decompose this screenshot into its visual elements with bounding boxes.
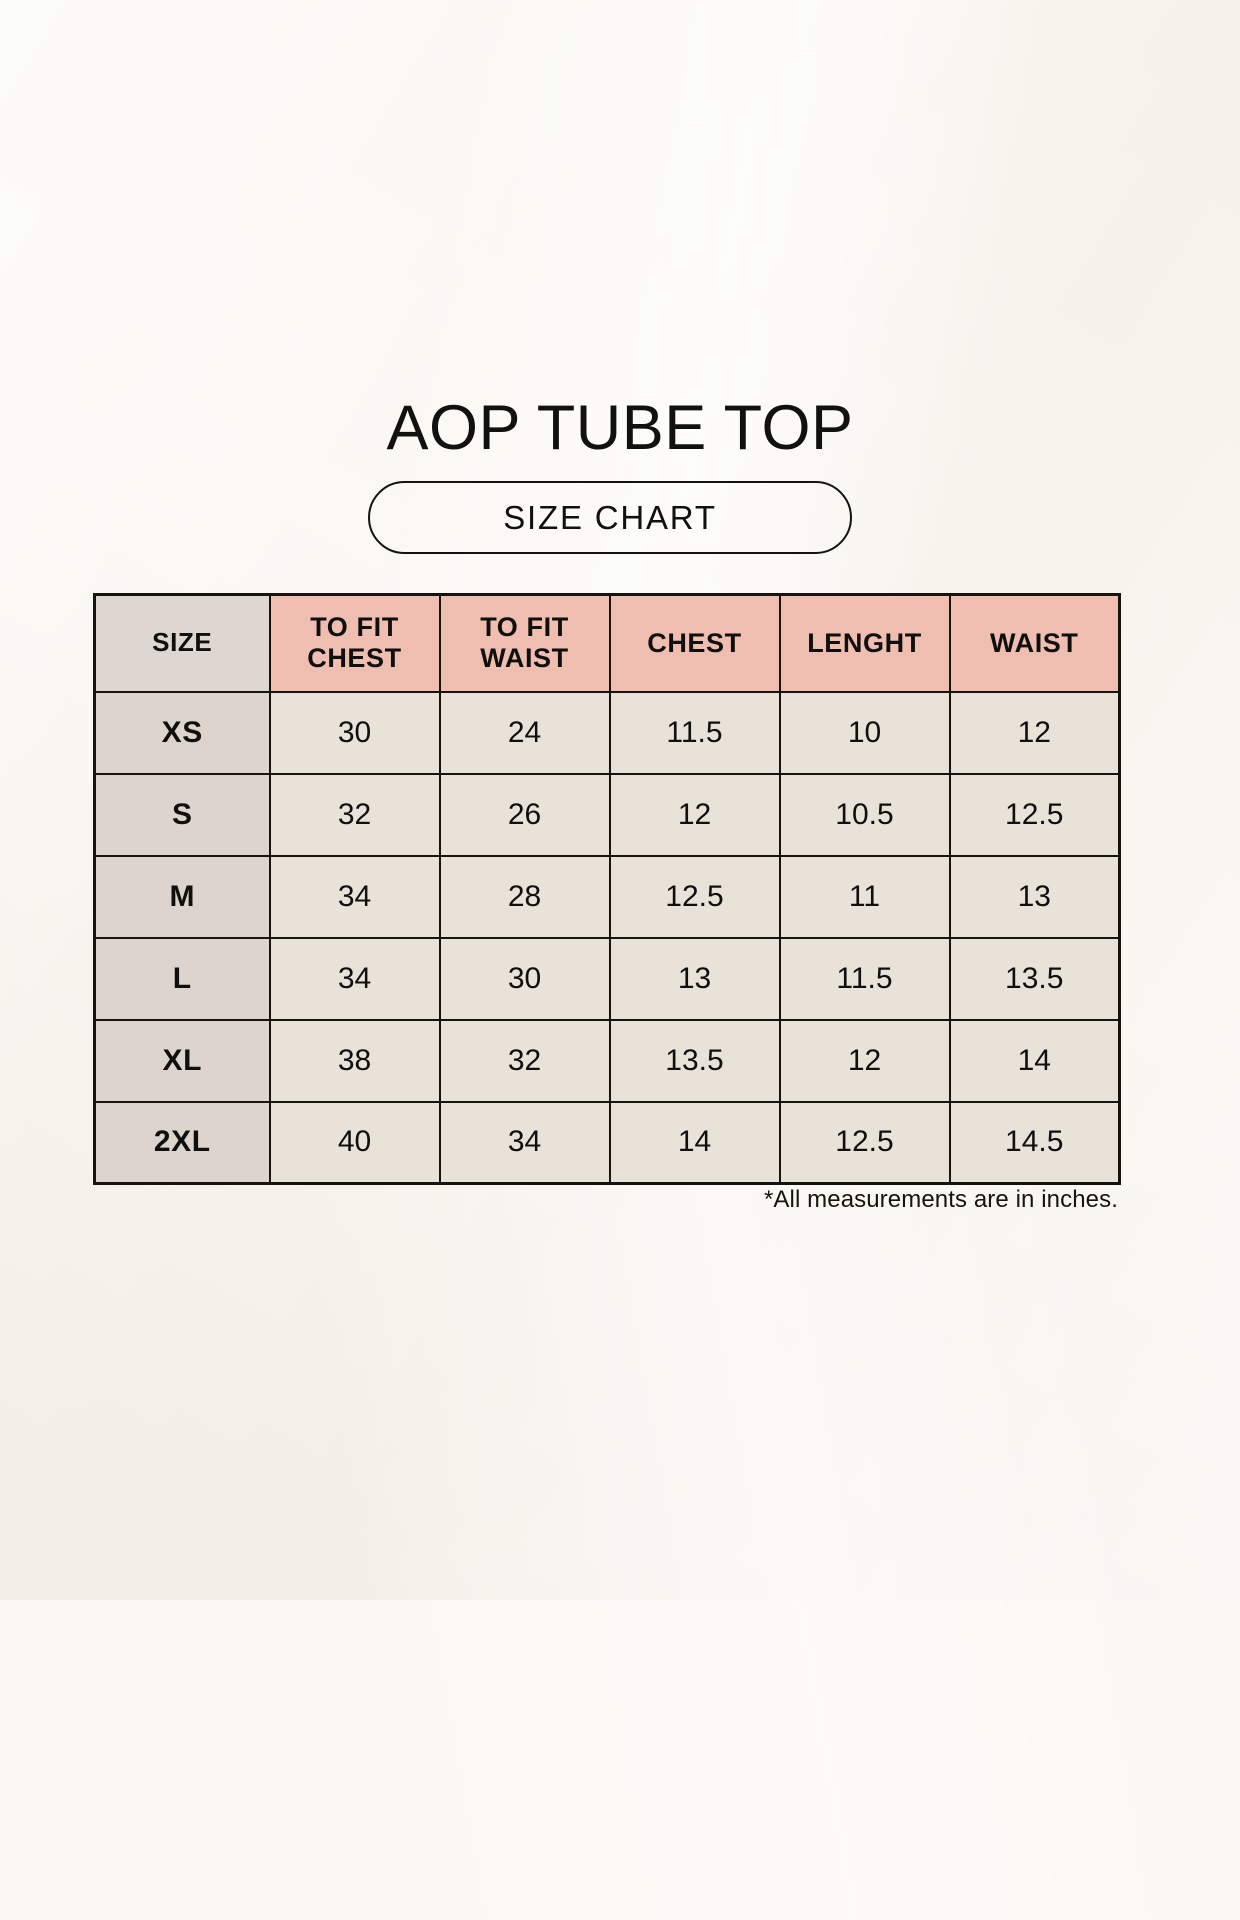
cell-chest: 12.5 [610, 856, 780, 938]
column-header-to-fit-waist-line1: TO FIT [480, 612, 569, 642]
cell-waist: 12.5 [950, 774, 1120, 856]
column-header-lenght-label: LENGHT [807, 628, 922, 658]
table-row: XL 38 32 13.5 12 14 [95, 1020, 1120, 1102]
cell-lenght: 11 [780, 856, 950, 938]
measurement-note: *All measurements are in inches. [93, 1186, 1118, 1214]
cell-waist: 12 [950, 692, 1120, 774]
column-header-to-fit-chest-line1: TO FIT [310, 612, 399, 642]
cell-lenght: 10 [780, 692, 950, 774]
cell-size: 2XL [95, 1102, 270, 1184]
table-header-row: SIZE TO FIT CHEST TO FIT WAIST CHEST LEN [95, 595, 1120, 692]
cell-to-fit-waist: 30 [440, 938, 610, 1020]
column-header-size-label: SIZE [152, 627, 212, 657]
cell-chest: 11.5 [610, 692, 780, 774]
cell-waist: 13 [950, 856, 1120, 938]
cell-waist: 13.5 [950, 938, 1120, 1020]
size-table-container: SIZE TO FIT CHEST TO FIT WAIST CHEST LEN [93, 593, 1118, 1185]
cell-lenght: 12 [780, 1020, 950, 1102]
size-table-header: SIZE TO FIT CHEST TO FIT WAIST CHEST LEN [95, 595, 1120, 692]
size-table-body: XS 30 24 11.5 10 12 S 32 26 12 10.5 12.5… [95, 692, 1120, 1184]
cell-to-fit-waist: 26 [440, 774, 610, 856]
cell-size: XS [95, 692, 270, 774]
column-header-size: SIZE [95, 595, 270, 692]
cell-size: XL [95, 1020, 270, 1102]
cell-to-fit-waist: 28 [440, 856, 610, 938]
table-row: L 34 30 13 11.5 13.5 [95, 938, 1120, 1020]
cell-chest: 14 [610, 1102, 780, 1184]
cell-lenght: 11.5 [780, 938, 950, 1020]
cell-to-fit-chest: 40 [270, 1102, 440, 1184]
table-row: S 32 26 12 10.5 12.5 [95, 774, 1120, 856]
column-header-waist: WAIST [950, 595, 1120, 692]
cell-chest: 12 [610, 774, 780, 856]
table-row: XS 30 24 11.5 10 12 [95, 692, 1120, 774]
cell-to-fit-chest: 38 [270, 1020, 440, 1102]
cell-to-fit-waist: 32 [440, 1020, 610, 1102]
cell-size: M [95, 856, 270, 938]
size-table: SIZE TO FIT CHEST TO FIT WAIST CHEST LEN [93, 593, 1121, 1185]
cell-lenght: 12.5 [780, 1102, 950, 1184]
cell-to-fit-chest: 30 [270, 692, 440, 774]
table-row: M 34 28 12.5 11 13 [95, 856, 1120, 938]
cell-waist: 14.5 [950, 1102, 1120, 1184]
column-header-to-fit-waist-line2: WAIST [480, 643, 569, 673]
table-row: 2XL 40 34 14 12.5 14.5 [95, 1102, 1120, 1184]
cell-chest: 13 [610, 938, 780, 1020]
cell-lenght: 10.5 [780, 774, 950, 856]
cell-to-fit-chest: 32 [270, 774, 440, 856]
cell-waist: 14 [950, 1020, 1120, 1102]
column-header-waist-label: WAIST [990, 628, 1079, 658]
column-header-lenght: LENGHT [780, 595, 950, 692]
size-chart-badge-label: SIZE CHART [503, 499, 717, 537]
cell-size: S [95, 774, 270, 856]
column-header-to-fit-waist: TO FIT WAIST [440, 595, 610, 692]
page-title: AOP TUBE TOP [0, 394, 1240, 463]
cell-to-fit-waist: 24 [440, 692, 610, 774]
cell-to-fit-waist: 34 [440, 1102, 610, 1184]
column-header-to-fit-chest-line2: CHEST [307, 643, 402, 673]
cell-size: L [95, 938, 270, 1020]
column-header-chest-label: CHEST [647, 628, 742, 658]
column-header-chest: CHEST [610, 595, 780, 692]
size-chart-page: AOP TUBE TOP SIZE CHART SIZE TO FIT [0, 0, 1240, 1600]
column-header-to-fit-chest: TO FIT CHEST [270, 595, 440, 692]
cell-to-fit-chest: 34 [270, 938, 440, 1020]
size-chart-badge: SIZE CHART [368, 481, 852, 554]
cell-chest: 13.5 [610, 1020, 780, 1102]
cell-to-fit-chest: 34 [270, 856, 440, 938]
